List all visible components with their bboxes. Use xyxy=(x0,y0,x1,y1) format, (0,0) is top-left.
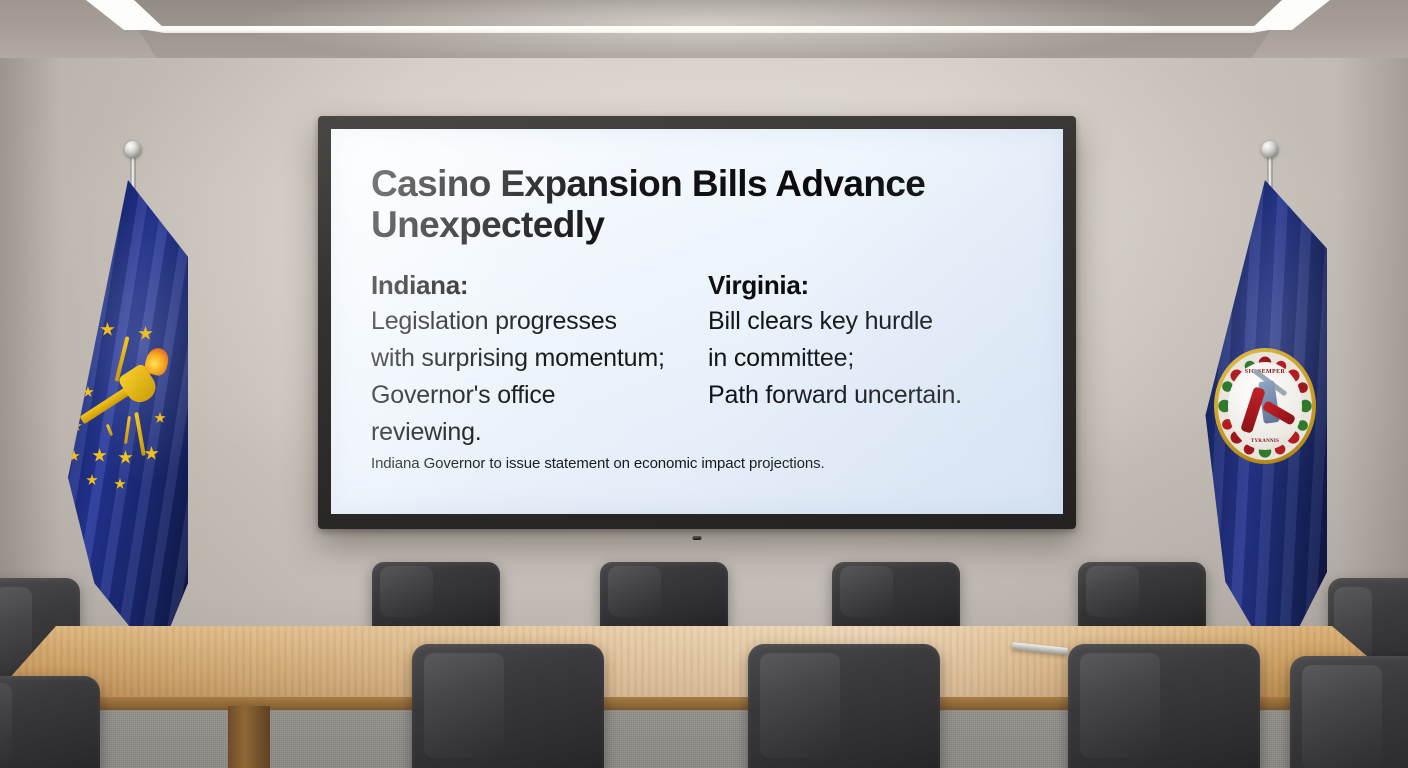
column-heading: Indiana: xyxy=(371,270,696,301)
chair-backrest xyxy=(600,562,728,634)
chair-near[interactable] xyxy=(0,676,100,768)
chair-far[interactable] xyxy=(832,562,960,634)
flag-virginia: SIC SEMPER TYRANNIS xyxy=(1265,150,1275,620)
star-icon xyxy=(154,412,166,424)
chair-backrest xyxy=(0,676,100,768)
column-body: Legislation progresses with surprising m… xyxy=(371,303,696,451)
star-icon xyxy=(86,474,98,486)
chair-near[interactable] xyxy=(1290,656,1408,768)
wall-display[interactable]: Casino Expansion Bills Advance Unexpecte… xyxy=(318,116,1076,529)
star-icon xyxy=(114,478,126,490)
chair-far[interactable] xyxy=(1078,562,1206,634)
chair-backrest xyxy=(748,644,940,768)
chair-near[interactable] xyxy=(412,644,604,768)
seal-motto-bottom: TYRANNIS xyxy=(1228,439,1302,444)
column-indiana: Indiana: Legislation progresses with sur… xyxy=(371,270,708,451)
column-body: Bill clears key hurdle in committee; Pat… xyxy=(708,303,1005,414)
flagpole-finial-right xyxy=(1262,141,1279,158)
chair-far[interactable] xyxy=(372,562,500,634)
status-led xyxy=(693,536,702,540)
chair-backrest xyxy=(372,562,500,634)
torch-ray xyxy=(134,412,146,456)
chair-far[interactable] xyxy=(600,562,728,634)
light-strip xyxy=(124,26,1292,33)
slide-title: Casino Expansion Bills Advance Unexpecte… xyxy=(371,163,981,246)
table-leg xyxy=(228,706,270,768)
display-panel: Casino Expansion Bills Advance Unexpecte… xyxy=(331,129,1063,514)
star-icon xyxy=(144,446,159,461)
seal-motto-top: SIC SEMPER xyxy=(1228,369,1302,375)
star-icon xyxy=(100,322,115,337)
column-heading: Virginia: xyxy=(708,270,1005,301)
conference-room-scene: SIC SEMPER TYRANNIS xyxy=(0,0,1408,768)
chair-near[interactable] xyxy=(1068,644,1260,768)
slide-footer: Indiana Governor to issue statement on e… xyxy=(371,453,1017,474)
chair-backrest xyxy=(412,644,604,768)
star-icon xyxy=(138,326,153,341)
star-icon xyxy=(92,448,107,463)
presentation-slide: Casino Expansion Bills Advance Unexpecte… xyxy=(331,129,1063,514)
torch-ray xyxy=(124,416,131,444)
seal-field: SIC SEMPER TYRANNIS xyxy=(1228,362,1302,450)
column-virginia: Virginia: Bill clears key hurdle in comm… xyxy=(708,270,1017,451)
flag-indiana xyxy=(128,150,138,620)
star-icon xyxy=(118,450,133,465)
slide-columns: Indiana: Legislation progresses with sur… xyxy=(371,270,1017,451)
chair-near[interactable] xyxy=(748,644,940,768)
chair-backrest xyxy=(1068,644,1260,768)
chair-backrest xyxy=(832,562,960,634)
chair-backrest xyxy=(1290,656,1408,768)
flagpole-finial-left xyxy=(125,141,142,158)
torch-ray xyxy=(106,424,113,436)
virginia-state-seal: SIC SEMPER TYRANNIS xyxy=(1214,348,1316,464)
chair-backrest xyxy=(1078,562,1206,634)
